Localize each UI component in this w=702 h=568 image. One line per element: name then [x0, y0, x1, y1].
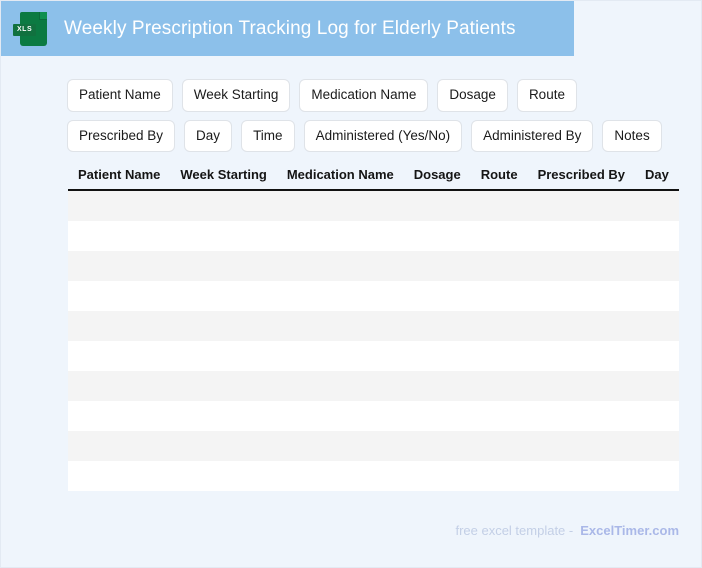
table-cell[interactable] [404, 371, 471, 401]
table-cell[interactable] [68, 281, 170, 311]
table-cell[interactable] [471, 461, 528, 491]
table-cell[interactable] [170, 311, 276, 341]
table-row[interactable] [68, 371, 679, 401]
table-cell[interactable] [528, 371, 635, 401]
field-chip-week-starting[interactable]: Week Starting [182, 79, 291, 112]
field-chip-prescribed-by[interactable]: Prescribed By [67, 120, 175, 153]
table-row[interactable] [68, 281, 679, 311]
table-cell[interactable] [471, 221, 528, 251]
table-cell[interactable] [170, 431, 276, 461]
table-cell[interactable] [404, 401, 471, 431]
table-cell[interactable] [528, 431, 635, 461]
table-cell[interactable] [277, 281, 404, 311]
table-cell[interactable] [471, 281, 528, 311]
xls-icon-label: XLS [13, 24, 36, 36]
table-cell[interactable] [277, 221, 404, 251]
table-row[interactable] [68, 461, 679, 491]
table-cell[interactable] [528, 190, 635, 221]
table-cell[interactable] [528, 461, 635, 491]
table-cell[interactable] [404, 281, 471, 311]
table-header-row: Patient NameWeek StartingMedication Name… [68, 164, 679, 190]
field-chip-medication-name[interactable]: Medication Name [299, 79, 428, 112]
table-column-header[interactable]: Medication Name [277, 164, 404, 190]
table-cell[interactable] [404, 461, 471, 491]
table-body [68, 190, 679, 491]
table-cell[interactable] [471, 371, 528, 401]
table-cell[interactable] [471, 401, 528, 431]
xls-icon-corner-fold [39, 12, 47, 20]
table-cell[interactable] [635, 461, 679, 491]
table-cell[interactable] [528, 311, 635, 341]
table-cell[interactable] [68, 190, 170, 221]
table-cell[interactable] [68, 401, 170, 431]
field-chip-notes[interactable]: Notes [602, 120, 661, 153]
table-cell[interactable] [471, 431, 528, 461]
field-chip-patient-name[interactable]: Patient Name [67, 79, 173, 112]
table-cell[interactable] [170, 461, 276, 491]
xls-file-icon: XLS [20, 12, 47, 46]
table-cell[interactable] [170, 251, 276, 281]
table-cell[interactable] [404, 251, 471, 281]
table-column-header[interactable]: Route [471, 164, 528, 190]
table-cell[interactable] [277, 341, 404, 371]
field-chip-administered-by[interactable]: Administered By [471, 120, 593, 153]
table-cell[interactable] [635, 221, 679, 251]
spreadsheet-table: Patient NameWeek StartingMedication Name… [68, 164, 679, 491]
table-cell[interactable] [528, 221, 635, 251]
table-cell[interactable] [68, 221, 170, 251]
table-cell[interactable] [170, 281, 276, 311]
table-cell[interactable] [170, 221, 276, 251]
table-cell[interactable] [528, 341, 635, 371]
table-cell[interactable] [68, 311, 170, 341]
table-cell[interactable] [277, 431, 404, 461]
table-cell[interactable] [277, 311, 404, 341]
table-cell[interactable] [528, 251, 635, 281]
table-cell[interactable] [528, 281, 635, 311]
table-cell[interactable] [635, 190, 679, 221]
footer-text: free excel template - [455, 523, 573, 538]
footer-attribution: free excel template -ExcelTimer.com [455, 523, 679, 538]
table-row[interactable] [68, 251, 679, 281]
field-chip-day[interactable]: Day [184, 120, 232, 153]
table-cell[interactable] [277, 371, 404, 401]
app-header-bar: XLS Weekly Prescription Tracking Log for… [1, 1, 574, 56]
table-cell[interactable] [635, 401, 679, 431]
table-cell[interactable] [404, 341, 471, 371]
table-cell[interactable] [635, 251, 679, 281]
table-cell[interactable] [68, 461, 170, 491]
spreadsheet-table-container[interactable]: Patient NameWeek StartingMedication Name… [68, 164, 679, 494]
table-column-header[interactable]: Prescribed By [528, 164, 635, 190]
table-cell[interactable] [404, 311, 471, 341]
table-cell[interactable] [635, 281, 679, 311]
table-cell[interactable] [471, 311, 528, 341]
table-row[interactable] [68, 190, 679, 221]
table-row[interactable] [68, 221, 679, 251]
table-column-header[interactable]: Patient Name [68, 164, 170, 190]
table-row[interactable] [68, 341, 679, 371]
table-row[interactable] [68, 431, 679, 461]
table-cell[interactable] [404, 221, 471, 251]
field-chip-administered-yes-no[interactable]: Administered (Yes/No) [304, 120, 463, 153]
table-column-header[interactable]: Week Starting [170, 164, 276, 190]
table-cell[interactable] [471, 341, 528, 371]
table-cell[interactable] [635, 371, 679, 401]
table-column-header[interactable]: Dosage [404, 164, 471, 190]
page-title: Weekly Prescription Tracking Log for Eld… [64, 18, 516, 40]
table-cell[interactable] [471, 251, 528, 281]
table-cell[interactable] [170, 371, 276, 401]
table-cell[interactable] [68, 251, 170, 281]
table-cell[interactable] [635, 341, 679, 371]
table-cell[interactable] [68, 431, 170, 461]
field-chip-dosage[interactable]: Dosage [437, 79, 508, 112]
table-cell[interactable] [170, 401, 276, 431]
field-chip-row: Patient Name Week Starting Medication Na… [67, 79, 682, 152]
table-header: Patient NameWeek StartingMedication Name… [68, 164, 679, 190]
table-cell[interactable] [635, 311, 679, 341]
table-cell[interactable] [528, 401, 635, 431]
field-chip-route[interactable]: Route [517, 79, 577, 112]
table-cell[interactable] [471, 190, 528, 221]
table-column-header[interactable]: Day [635, 164, 679, 190]
field-chip-time[interactable]: Time [241, 120, 295, 153]
table-cell[interactable] [635, 431, 679, 461]
table-cell[interactable] [68, 341, 170, 371]
table-cell[interactable] [277, 190, 404, 221]
table-cell[interactable] [277, 461, 404, 491]
table-cell[interactable] [277, 251, 404, 281]
table-cell[interactable] [170, 190, 276, 221]
table-cell[interactable] [404, 431, 471, 461]
table-row[interactable] [68, 401, 679, 431]
table-cell[interactable] [277, 401, 404, 431]
table-cell[interactable] [404, 190, 471, 221]
table-row[interactable] [68, 311, 679, 341]
table-cell[interactable] [68, 371, 170, 401]
footer-link-exceltimer[interactable]: ExcelTimer.com [580, 523, 679, 538]
field-chip-list: Patient Name Week Starting Medication Na… [67, 79, 682, 152]
table-cell[interactable] [170, 341, 276, 371]
